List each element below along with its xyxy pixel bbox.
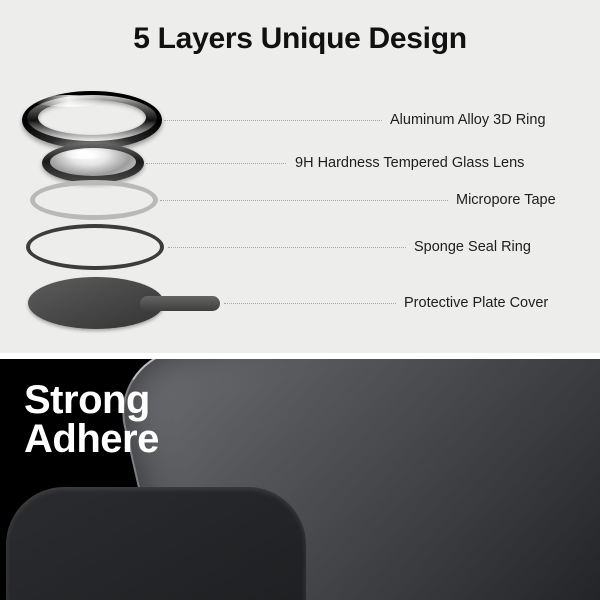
sponge-seal-ring-icon [26, 224, 164, 270]
strong-adhere-panel: Strong Adhere [0, 359, 600, 600]
tempered-glass-lens-icon [42, 143, 144, 183]
page-title: 5 Layers Unique Design [0, 22, 600, 56]
leader-line [160, 200, 448, 201]
layers-panel: 5 Layers Unique Design Aluminum Alloy 3D… [0, 0, 600, 353]
layer-label-tempered-glass-lens: 9H Hardness Tempered Glass Lens [295, 155, 524, 171]
leader-line [146, 163, 286, 164]
product-infographic: 5 Layers Unique Design Aluminum Alloy 3D… [0, 0, 600, 600]
headline-line-1: Strong [24, 381, 159, 420]
protective-plate-cover-icon [28, 277, 220, 329]
layer-label-protective-plate-cover: Protective Plate Cover [404, 295, 548, 311]
aluminum-alloy-3d-ring-icon [22, 91, 162, 149]
phone-corner-rim [6, 487, 306, 600]
leader-line [168, 247, 406, 248]
leader-line [164, 120, 382, 121]
layer-label-sponge-seal-ring: Sponge Seal Ring [414, 239, 531, 255]
layer-label-micropore-tape: Micropore Tape [456, 192, 556, 208]
layer-label-aluminum-alloy-3d-ring: Aluminum Alloy 3D Ring [390, 112, 546, 128]
leader-line [224, 303, 396, 304]
headline: Strong Adhere [24, 381, 159, 459]
micropore-tape-icon [30, 180, 158, 220]
headline-line-2: Adhere [24, 420, 159, 459]
